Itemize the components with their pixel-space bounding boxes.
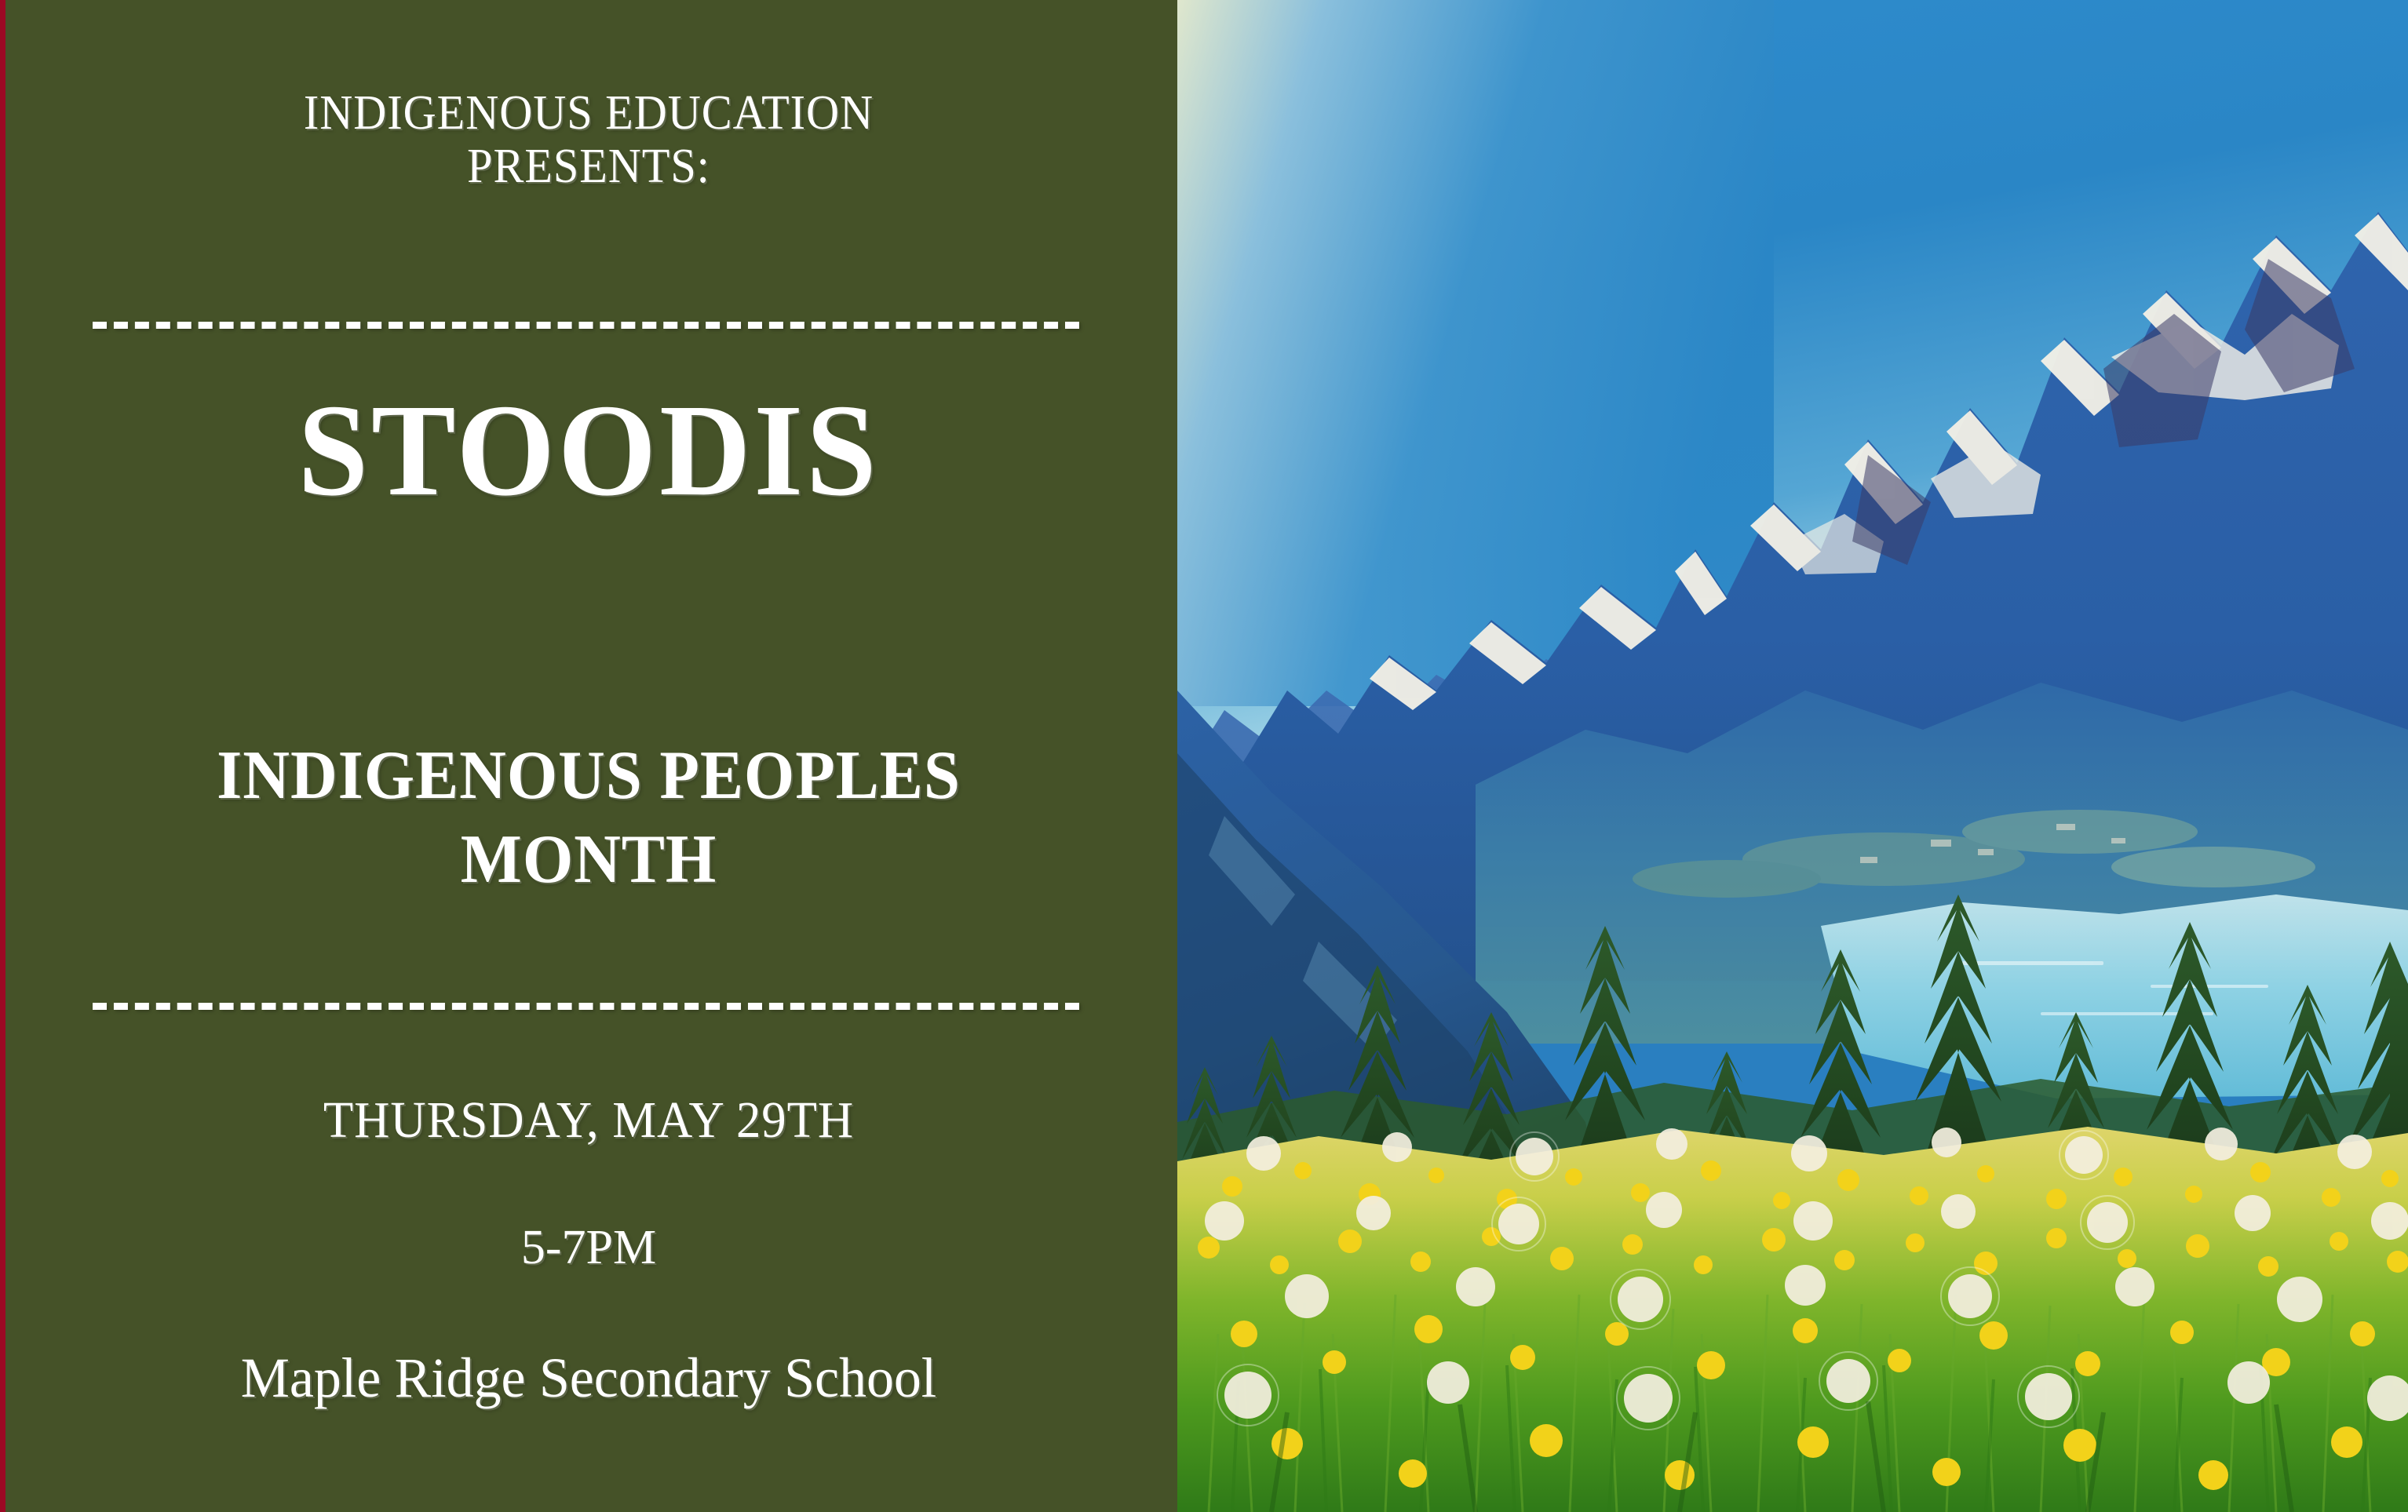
- event-time: 5-7PM: [0, 1220, 1177, 1276]
- divider-bottom: [93, 1003, 1079, 1010]
- divider-top: [93, 322, 1079, 329]
- presenter-line-2: PRESENTS:: [35, 140, 1142, 193]
- presenter-heading: INDIGENOUS EDUCATION PRESENTS:: [35, 86, 1142, 193]
- event-info-panel: INDIGENOUS EDUCATION PRESENTS: STOODIS I…: [0, 0, 1177, 1512]
- mountain-meadow-photo: [1177, 0, 2408, 1512]
- left-accent-stripe: [0, 0, 5, 1512]
- landscape-illustration: [1177, 0, 2408, 1512]
- event-title: STOODIS: [24, 384, 1154, 516]
- subtitle-line-2: MONTH: [35, 818, 1142, 902]
- event-venue: Maple Ridge Secondary School: [18, 1346, 1160, 1411]
- poster-root: INDIGENOUS EDUCATION PRESENTS: STOODIS I…: [0, 0, 2408, 1512]
- event-date: THURSDAY, MAY 29TH: [30, 1091, 1148, 1150]
- subtitle-line-1: INDIGENOUS PEOPLES: [35, 734, 1142, 818]
- event-subtitle: INDIGENOUS PEOPLES MONTH: [35, 734, 1142, 902]
- presenter-line-1: INDIGENOUS EDUCATION: [35, 86, 1142, 140]
